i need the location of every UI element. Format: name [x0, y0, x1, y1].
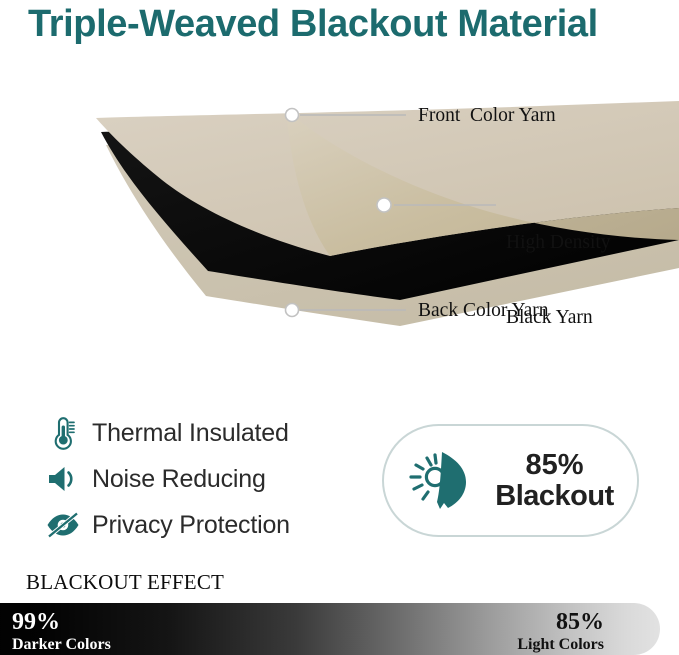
speaker-icon: [44, 460, 82, 498]
feature-noise-reducing: Noise Reducing: [44, 456, 374, 502]
effect-light-colors: 85% Light Colors: [517, 610, 604, 654]
blackout-badge: 85% Blackout: [382, 424, 639, 537]
blackout-percent: 85%: [482, 450, 627, 481]
label-line-1: High Density: [506, 230, 611, 255]
effect-light-percent: 85%: [517, 610, 604, 635]
effect-darker-description: Darker Colors: [12, 635, 111, 654]
label-high-density-black-yarn: High Density Black Yarn: [506, 180, 611, 355]
feature-label: Noise Reducing: [92, 465, 266, 494]
feature-thermal-insulated: Thermal Insulated: [44, 410, 374, 456]
blackout-word: Blackout: [482, 481, 627, 512]
sun-behind-curtain-icon: [398, 441, 482, 521]
blackout-effect-gradient-bar: 99% Darker Colors 85% Light Colors: [0, 603, 660, 655]
eye-slash-icon: [44, 506, 82, 544]
page-title: Triple-Weaved Blackout Material: [28, 2, 668, 46]
effect-darker-colors: 99% Darker Colors: [12, 610, 111, 654]
label-back-color-yarn: Back Color Yarn: [418, 298, 549, 323]
feature-list: Thermal Insulated Noise Reducing Privacy…: [44, 410, 374, 548]
label-front-color-yarn: Front Color Yarn: [418, 103, 556, 128]
blackout-badge-text: 85% Blackout: [482, 450, 637, 512]
effect-darker-percent: 99%: [12, 610, 111, 635]
effect-light-description: Light Colors: [517, 635, 604, 654]
thermometer-icon: [44, 414, 82, 452]
feature-privacy-protection: Privacy Protection: [44, 502, 374, 548]
blackout-effect-heading: BLACKOUT EFFECT: [26, 570, 224, 595]
feature-label: Thermal Insulated: [92, 419, 289, 448]
feature-label: Privacy Protection: [92, 511, 290, 540]
